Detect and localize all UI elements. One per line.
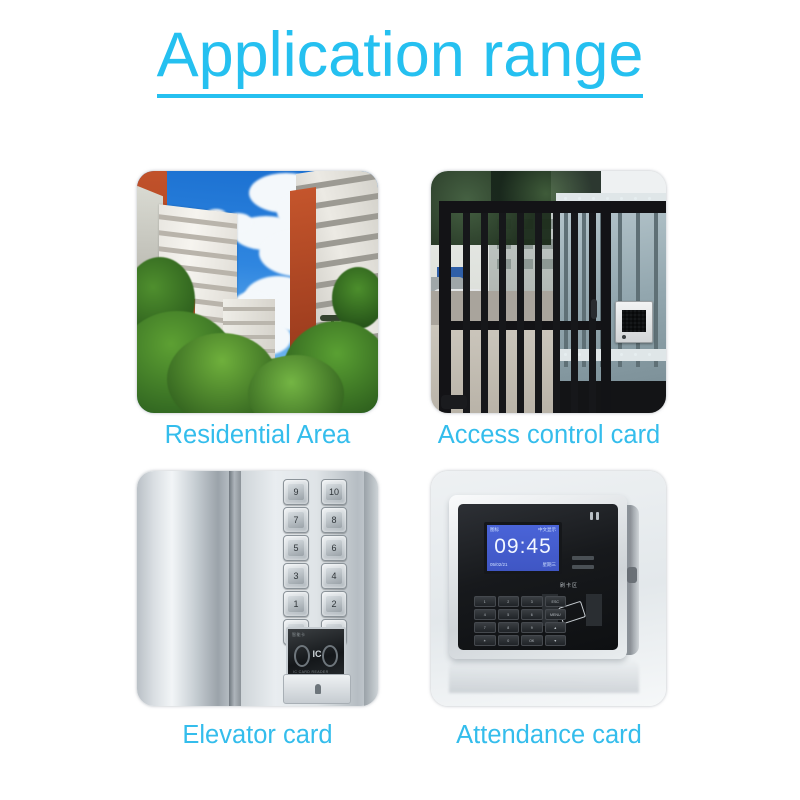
- lcd-weekday-text: 星期三: [543, 562, 557, 569]
- keypad-key[interactable]: 9: [521, 622, 543, 633]
- elevator-button-1[interactable]: 1: [283, 591, 309, 617]
- rfid-wave-icon: [294, 645, 310, 667]
- tile-access-control-card[interactable]: [431, 171, 666, 413]
- caption-attendance-card: Attendance card: [419, 723, 679, 749]
- attendance-machine-photo: 图标 中文显示 09:45 05/02/21 星期三: [431, 471, 666, 706]
- gate-vertical-bar: [571, 213, 578, 413]
- keyhole-icon: [315, 684, 321, 694]
- keypad-key[interactable]: 5: [498, 609, 520, 620]
- elevator-door-leaf: [137, 471, 229, 706]
- device-body: 图标 中文显示 09:45 05/02/21 星期三: [449, 495, 627, 659]
- lcd-top-row: 图标 中文显示: [490, 527, 556, 534]
- keypad-key[interactable]: MENU: [545, 609, 567, 620]
- residential-buildings-photo: [137, 171, 378, 413]
- tile-attendance-card[interactable]: 图标 中文显示 09:45 05/02/21 星期三: [431, 471, 666, 706]
- elevator-button-8[interactable]: 8: [321, 507, 347, 533]
- keypad-key[interactable]: 1: [474, 596, 496, 607]
- elevator-panel-photo: 9 10 7 8 5 6 3 4 1 2 ▸|◂ ◂|▸ 智能卡 IC IC C…: [137, 471, 378, 706]
- keypad-key[interactable]: ESC: [545, 596, 567, 607]
- elevator-button-7[interactable]: 7: [283, 507, 309, 533]
- access-control-reader[interactable]: [615, 301, 653, 343]
- elevator-button-5[interactable]: 5: [283, 535, 309, 561]
- ic-card-reader[interactable]: 智能卡 IC IC CARD READER: [286, 627, 346, 679]
- keypad-key[interactable]: 2: [498, 596, 520, 607]
- keypad-key[interactable]: 8: [498, 622, 520, 633]
- lcd-bottom-row: 05/02/21 星期三: [490, 562, 556, 569]
- gate-roller: [441, 395, 467, 409]
- keypad-key[interactable]: 6: [521, 609, 543, 620]
- device-reflection: [449, 659, 639, 693]
- reader-status-led: [622, 335, 626, 339]
- rfid-wave-icon: [322, 645, 338, 667]
- application-tiles-grid: Residential Area: [0, 0, 800, 800]
- reader-ic-label: IC: [310, 645, 324, 663]
- elevator-button-4[interactable]: 4: [321, 563, 347, 589]
- elevator-button-10[interactable]: 10: [321, 479, 347, 505]
- elevator-button-3[interactable]: 3: [283, 563, 309, 589]
- reader-keypad-icon: [622, 310, 646, 332]
- keypad-key[interactable]: ▼: [545, 635, 567, 646]
- gate-handle[interactable]: [591, 299, 597, 319]
- device-front-face: 图标 中文显示 09:45 05/02/21 星期三: [458, 504, 618, 650]
- elevator-door-gap: [229, 471, 241, 706]
- keypad-key[interactable]: 4: [474, 609, 496, 620]
- elevator-button-6[interactable]: 6: [321, 535, 347, 561]
- speaker-vents: [572, 556, 594, 574]
- gate-vertical-bar: [481, 213, 488, 413]
- gate-vertical-bar: [517, 213, 524, 413]
- gate-center-post: [601, 201, 611, 413]
- gate-vertical-bar: [553, 213, 560, 413]
- gate-top-rail: [439, 201, 666, 213]
- tile-elevator-card[interactable]: 9 10 7 8 5 6 3 4 1 2 ▸|◂ ◂|▸ 智能卡 IC IC C…: [137, 471, 378, 706]
- gate-left-post: [439, 201, 451, 413]
- access-control-gate-photo: [431, 171, 666, 413]
- caption-residential-area: Residential Area: [137, 423, 378, 449]
- lcd-clock-time: 09:45: [487, 536, 559, 557]
- device-side-port: [627, 567, 637, 583]
- gate-vertical-bar: [535, 213, 542, 413]
- lcd-top-left-text: 图标: [490, 527, 499, 534]
- keypad-key[interactable]: 7: [474, 622, 496, 633]
- caption-elevator-card: Elevator card: [137, 723, 378, 749]
- gate-middle-rail: [451, 321, 611, 330]
- panel-service-lock[interactable]: [283, 674, 351, 704]
- attendance-keypad[interactable]: 1 2 3 ESC 4 5 6 MENU 7 8 9 ▲ ✶: [474, 596, 566, 646]
- gate-vertical-bar: [463, 213, 470, 413]
- elevator-button-9[interactable]: 9: [283, 479, 309, 505]
- rfid-wing-icon: [586, 594, 602, 626]
- reader-brand-label: 智能卡: [292, 632, 306, 638]
- caption-access-control-card: Access control card: [419, 423, 679, 449]
- lcd-date-text: 05/02/21: [490, 562, 508, 569]
- tile-residential-area[interactable]: [137, 171, 378, 413]
- keypad-key[interactable]: OK: [521, 635, 543, 646]
- gate-vertical-bar: [499, 213, 506, 413]
- keypad-key[interactable]: 3: [521, 596, 543, 607]
- elevator-button-2[interactable]: 2: [321, 591, 347, 617]
- rfid-area-label: 刷卡区: [560, 582, 578, 589]
- lcd-display: 图标 中文显示 09:45 05/02/21 星期三: [484, 522, 562, 574]
- keypad-key[interactable]: ▲: [545, 622, 567, 633]
- status-led-group: [590, 512, 602, 520]
- lcd-top-right-text: 中文显示: [538, 527, 556, 534]
- keypad-key[interactable]: ✶: [474, 635, 496, 646]
- panel-edge-highlight: [364, 471, 378, 706]
- tree-canopy: [332, 267, 378, 329]
- keypad-key[interactable]: 0: [498, 635, 520, 646]
- application-range-page: Application range: [0, 0, 800, 800]
